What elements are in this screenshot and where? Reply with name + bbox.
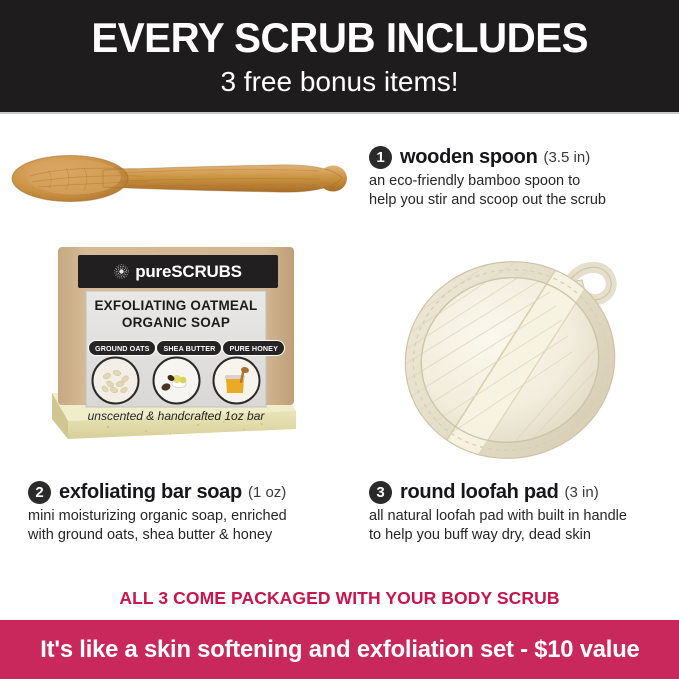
item-3-desc-line1: all natural loofah pad with built in han… xyxy=(369,507,675,526)
item-3-description: all natural loofah pad with built in han… xyxy=(369,507,675,546)
item-1-desc-line2: help you stir and scoop out the scrub xyxy=(369,191,675,210)
header-banner: EVERY SCRUB INCLUDES 3 free bonus items! xyxy=(0,0,679,112)
item-1-number-badge: 1 xyxy=(369,146,392,169)
item-3-title: round loofah pad xyxy=(400,481,559,504)
item-3-heading: 3 round loofah pad (3 in) xyxy=(369,481,675,504)
bamboo-spoon-image xyxy=(8,148,353,210)
header-divider xyxy=(0,112,679,114)
item-1-description: an eco-friendly bamboo spoon to help you… xyxy=(369,172,675,211)
soap-ingredient-pill: GROUND OATS xyxy=(88,340,156,356)
item-2-desc-line1: mini moisturizing organic soap, enriched xyxy=(28,507,348,526)
item-2-title: exfoliating bar soap xyxy=(59,481,242,504)
item-1-title: wooden spoon xyxy=(400,146,538,169)
shea-butter-photo-icon xyxy=(152,356,201,405)
item-1-size: (3.5 in) xyxy=(544,149,591,166)
soap-title-line2: ORGANIC SOAP xyxy=(86,315,266,332)
item-2-desc-line2: with ground oats, shea butter & honey xyxy=(28,526,348,545)
pure-honey-photo-icon xyxy=(212,356,261,405)
item-2-size: (1 oz) xyxy=(248,484,286,501)
item-2-description: mini moisturizing organic soap, enriched… xyxy=(28,507,348,546)
page-subtitle: 3 free bonus items! xyxy=(220,68,458,96)
ground-oats-photo-icon xyxy=(91,356,140,405)
soap-footnote: unscented & handcrafted 1oz bar xyxy=(86,409,266,423)
footer-value-text: It's like a skin softening and exfoliati… xyxy=(40,636,639,664)
page-title: EVERY SCRUB INCLUDES xyxy=(91,17,588,59)
item-1-text: 1 wooden spoon (3.5 in) an eco-friendly … xyxy=(369,146,675,211)
item-3-desc-line2: to help you buff way dry, dead skin xyxy=(369,526,675,545)
soap-ingredient-pill: SHEA BUTTER xyxy=(156,340,222,356)
mandala-ornament-icon xyxy=(114,264,129,279)
item-1-desc-line1: an eco-friendly bamboo spoon to xyxy=(369,172,675,191)
infographic-page: EVERY SCRUB INCLUDES 3 free bonus items! xyxy=(0,0,679,679)
item-3-text: 3 round loofah pad (3 in) all natural lo… xyxy=(369,481,675,546)
soap-title-line1: EXFOLIATING OATMEAL xyxy=(86,298,266,315)
soap-brand-name: pureSCRUBS xyxy=(135,262,242,282)
footer-value-bar: It's like a skin softening and exfoliati… xyxy=(0,620,679,679)
item-2-number-badge: 2 xyxy=(28,481,51,504)
item-1-heading: 1 wooden spoon (3.5 in) xyxy=(369,146,675,169)
loofah-pad-image xyxy=(392,240,660,468)
item-2-heading: 2 exfoliating bar soap (1 oz) xyxy=(28,481,348,504)
item-3-number-badge: 3 xyxy=(369,481,392,504)
item-2-text: 2 exfoliating bar soap (1 oz) mini moist… xyxy=(28,481,348,546)
soap-brand-band: pureSCRUBS xyxy=(78,255,278,288)
footer-tagline: ALL 3 COME PACKAGED WITH YOUR BODY SCRUB xyxy=(0,588,679,609)
bar-soap-image: pureSCRUBS EXFOLIATING OATMEAL ORGANIC S… xyxy=(48,243,310,455)
item-3-size: (3 in) xyxy=(565,484,599,501)
soap-ingredient-pill: PURE HONEY xyxy=(222,340,285,356)
